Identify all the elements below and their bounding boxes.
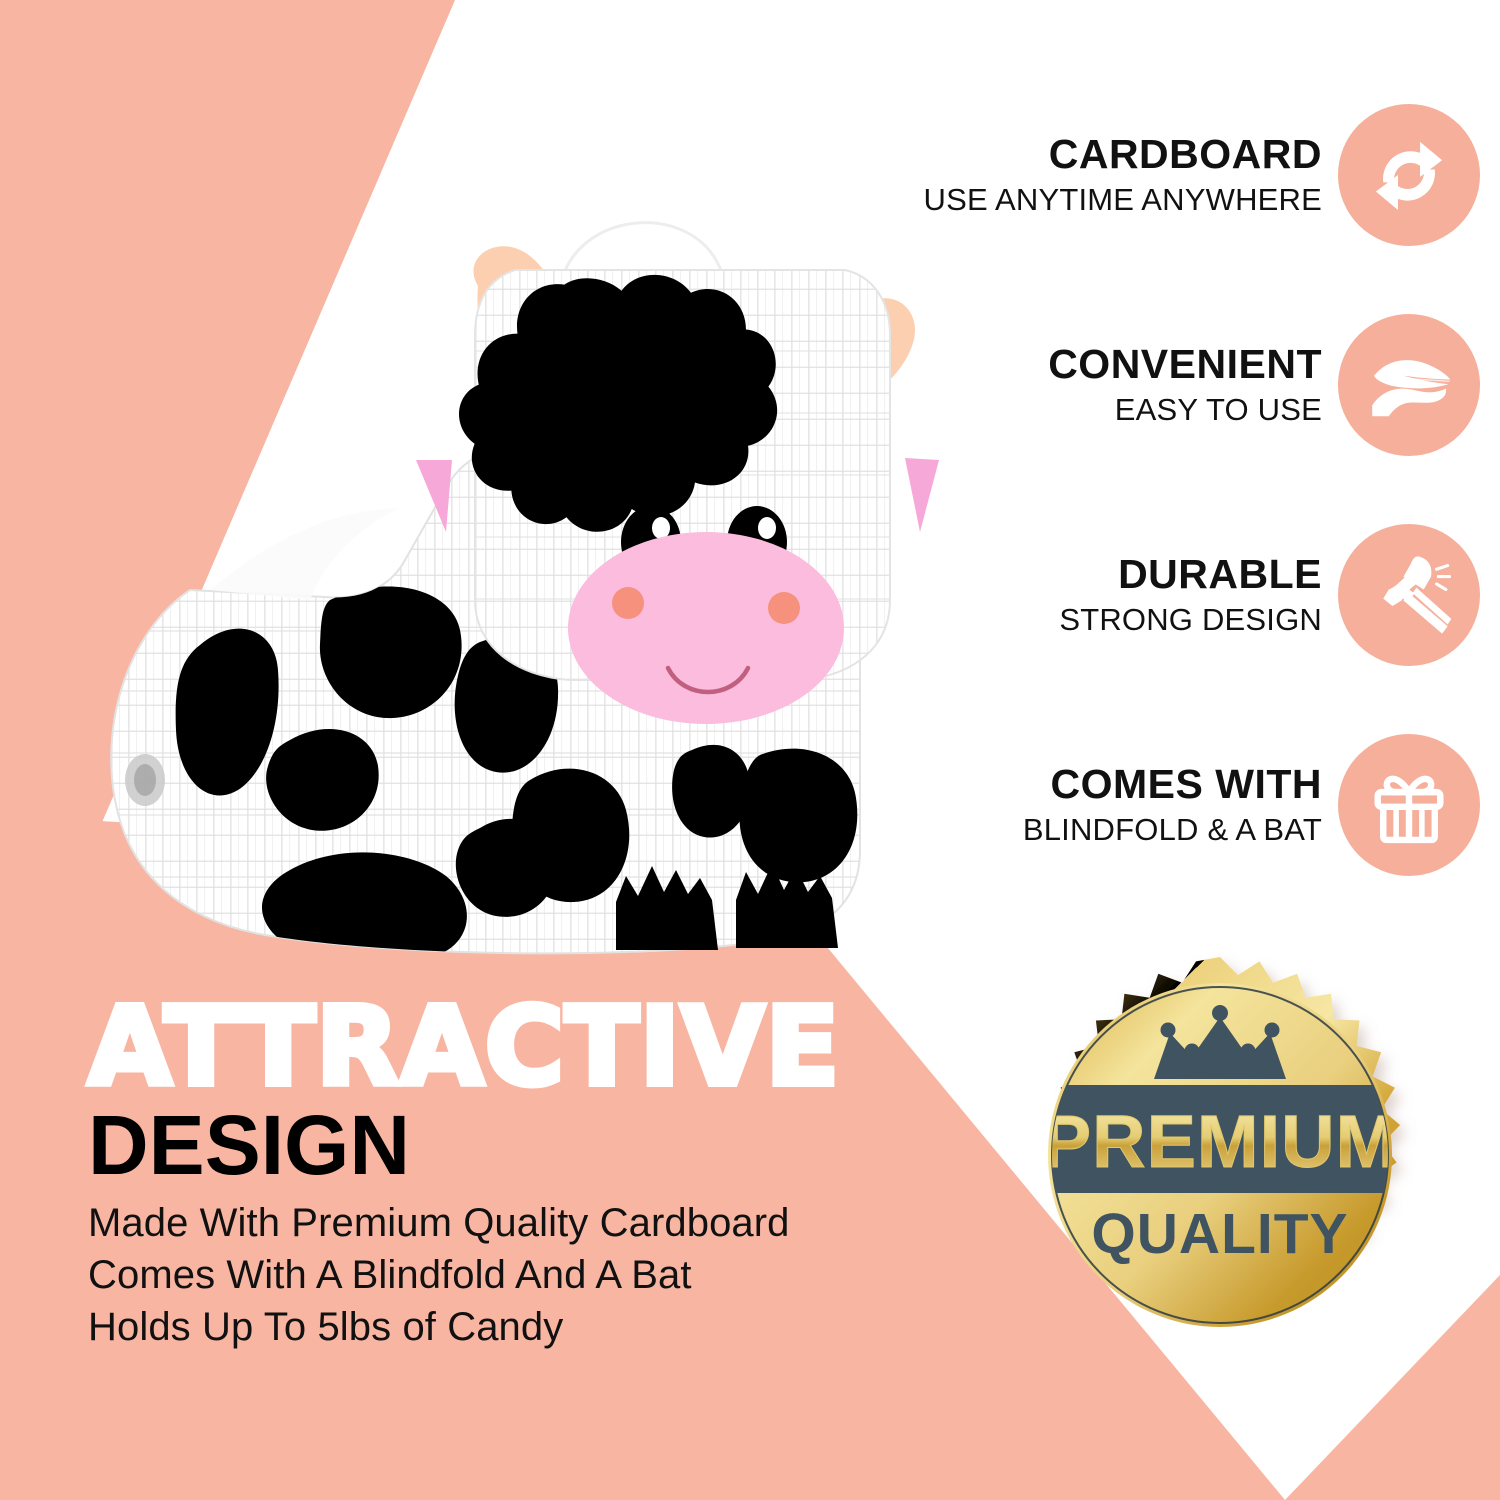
copy-line-3: Holds Up To 5lbs of Candy [88,1301,918,1353]
feature-text-block: CARDBOARD USE ANYTIME ANYWHERE [924,132,1338,217]
feature-item-comes-with: COMES WITH BLINDFOLD & A BAT [780,700,1480,910]
feature-title: CONVENIENT [1048,342,1322,386]
feature-subtitle: USE ANYTIME ANYWHERE [924,181,1322,218]
infographic-canvas: CARDBOARD USE ANYTIME ANYWHERE CONVENIEN… [0,0,1500,1500]
feature-subtitle: EASY TO USE [1048,391,1322,428]
headline-attractive: ATTRACTIVE [88,995,918,1101]
feature-text-block: DURABLE STRONG DESIGN [1059,552,1338,637]
feature-subtitle: BLINDFOLD & A BAT [1023,811,1322,848]
feature-item-cardboard: CARDBOARD USE ANYTIME ANYWHERE [780,70,1480,280]
premium-quality-badge: PREMIUM QUALITY [1010,945,1430,1365]
feature-icon-circle [1338,734,1480,876]
copy-line-1: Made With Premium Quality Cardboard [88,1197,918,1249]
copy-lines: Made With Premium Quality Cardboard Come… [88,1197,918,1353]
headline-design: DESIGN [88,1103,918,1187]
feature-title: CARDBOARD [924,132,1322,176]
recycle-arrows-icon [1363,129,1455,221]
feature-text-block: CONVENIENT EASY TO USE [1048,342,1338,427]
feature-icon-circle [1338,524,1480,666]
feature-list: CARDBOARD USE ANYTIME ANYWHERE CONVENIEN… [780,70,1480,910]
copy-line-2: Comes With A Blindfold And A Bat [88,1249,918,1301]
feature-item-convenient: CONVENIENT EASY TO USE [780,280,1480,490]
product-copy-block: ATTRACTIVE DESIGN Made With Premium Qual… [88,995,918,1353]
feature-icon-circle [1338,314,1480,456]
feature-subtitle: STRONG DESIGN [1059,601,1322,638]
badge-banner-text: PREMIUM [1042,1100,1398,1183]
feature-icon-circle [1338,104,1480,246]
feature-text-block: COMES WITH BLINDFOLD & A BAT [1023,762,1338,847]
cow-cheek-left [612,587,644,619]
feature-item-durable: DURABLE STRONG DESIGN [780,490,1480,700]
hammer-icon [1363,549,1455,641]
feature-title: DURABLE [1059,552,1322,596]
feather-in-hand-icon [1363,339,1455,431]
feature-title: COMES WITH [1023,762,1322,806]
badge-sub-text: QUALITY [1091,1202,1348,1266]
gift-box-icon [1363,759,1455,851]
